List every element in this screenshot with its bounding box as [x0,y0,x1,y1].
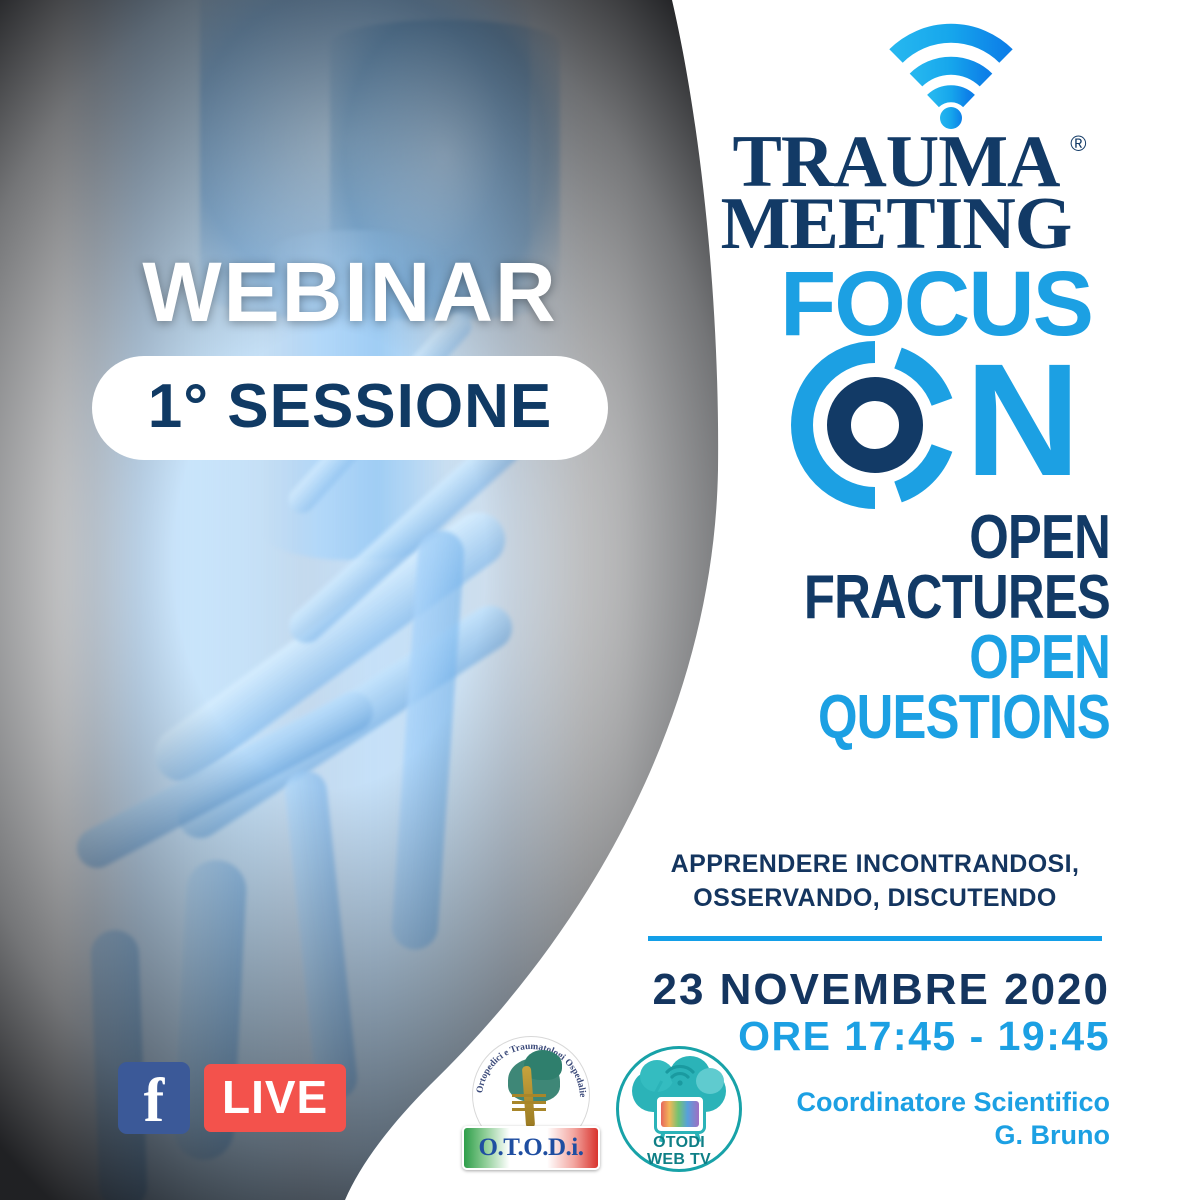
session-label: 1° SESSIONE [148,376,553,438]
headline-block: OPEN FRACTURES OPEN QUESTIONS [640,508,1110,749]
otodi-rung-2 [512,1101,546,1104]
facebook-f-glyph: f [118,1070,190,1132]
headline-line-2: FRACTURES [725,568,1110,628]
tagline-block: APPRENDERE INCONTRANDOSI, OSSERVANDO, DI… [640,848,1110,916]
coordinator-block: Coordinatore Scientifico G. Bruno [640,1086,1110,1153]
live-badge: LIVE [204,1064,346,1132]
facebook-f-icon[interactable]: f [118,1062,190,1134]
brand-trauma: TRAUMA ® [733,130,1060,195]
facebook-live-badge[interactable]: f LIVE [118,1062,346,1134]
tagline-line-1: APPRENDERE INCONTRANDOSI, [640,848,1110,882]
event-date: 23 NOVEMBRE 2020 [640,966,1110,1014]
headline-line-3: OPEN [725,628,1110,688]
xray-vignette [0,0,740,1200]
event-time: ORE 17:45 - 19:45 [640,1014,1110,1059]
coordinator-role: Coordinatore Scientifico [640,1086,1110,1119]
date-time-block: 23 NOVEMBRE 2020 ORE 17:45 - 19:45 [640,966,1110,1059]
coordinator-name: G. Bruno [640,1119,1110,1152]
headline-line-1: OPEN [725,508,1110,568]
webinar-title: WEBINAR [0,250,700,334]
otodi-rung-3 [512,1108,546,1111]
session-pill: 1° SESSIONE [92,356,609,460]
divider-rule [648,936,1102,941]
webinar-block: WEBINAR 1° SESSIONE [0,250,700,460]
brand-trauma-text: TRAUMA [733,121,1060,203]
otodi-banner: O.T.O.D.i. [462,1126,600,1170]
on-letter-n: N [965,340,1075,500]
on-lockup: N [790,340,1150,510]
otodi-rung-1 [512,1094,546,1097]
registered-trademark-icon: ® [1070,134,1085,153]
target-focus-ring-icon [790,340,960,510]
right-content-column: TRAUMA ® MEETING FOCUS N OPEN FRACTURES … [640,0,1200,1200]
otodi-banner-text: O.T.O.D.i. [479,1134,584,1162]
tagline-line-2: OSSERVANDO, DISCUTENDO [640,882,1110,916]
otodi-logo: Ortopedici e Traumatologi Ospedalieri D'… [462,1036,600,1176]
trauma-meeting-lockup: TRAUMA ® MEETING [640,130,1152,258]
xray-image-panel: WEBINAR 1° SESSIONE [0,0,740,1200]
headline-line-4: QUESTIONS [725,688,1110,748]
wifi-icon [888,18,1014,130]
